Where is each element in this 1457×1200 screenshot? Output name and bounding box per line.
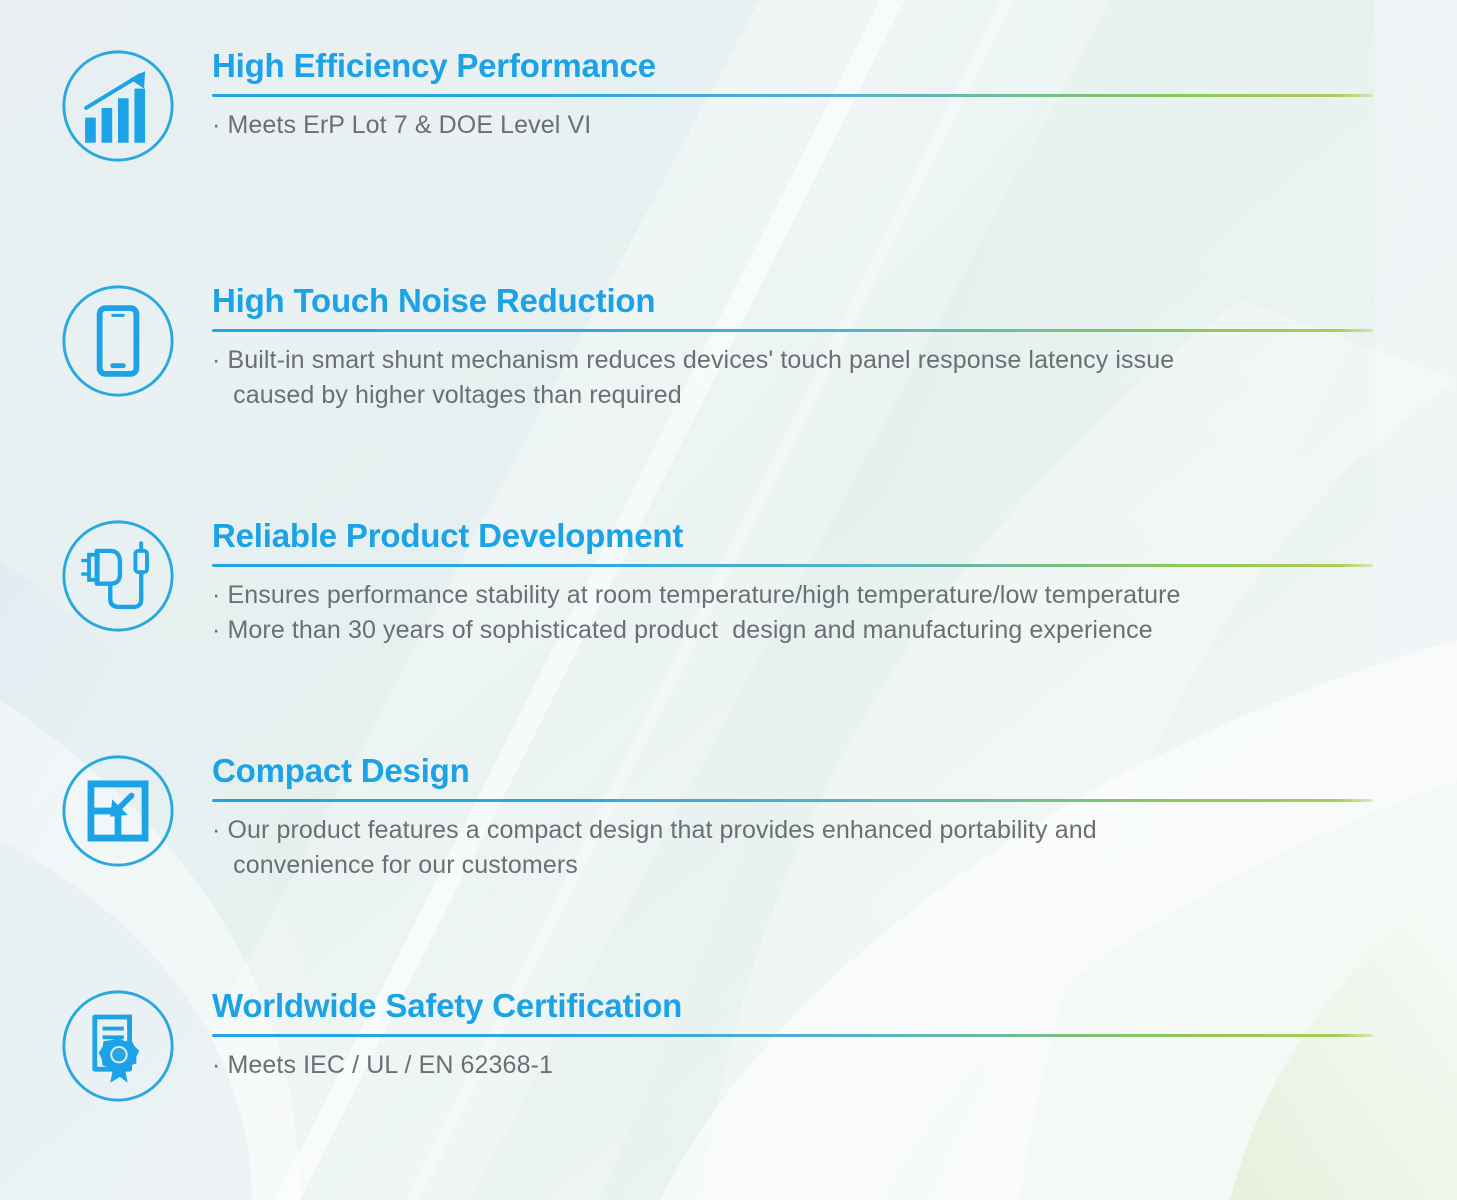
growth-bar-chart-icon (60, 48, 176, 164)
feature-divider (212, 329, 1373, 332)
power-adapter-icon (60, 518, 176, 634)
feature-bullet: · Meets ErP Lot 7 & DOE Level VI (212, 108, 1377, 144)
feature-item: Worldwide Safety Certification · Meets I… (0, 988, 1457, 1104)
certificate-award-icon (60, 988, 176, 1104)
feature-bullet: · Meets IEC / UL / EN 62368-1 (212, 1048, 1377, 1084)
smartphone-icon (60, 283, 176, 399)
feature-item: High Touch Noise Reduction · Built-in sm… (0, 283, 1457, 414)
feature-body: Worldwide Safety Certification · Meets I… (178, 988, 1457, 1083)
feature-item: High Efficiency Performance · Meets ErP … (0, 48, 1457, 164)
feature-list: High Efficiency Performance · Meets ErP … (0, 0, 1457, 1200)
feature-item: Compact Design · Our product features a … (0, 753, 1457, 884)
feature-divider (212, 94, 1373, 97)
feature-bullets: · Built-in smart shunt mechanism reduces… (212, 343, 1377, 414)
feature-divider (212, 564, 1373, 567)
feature-item: Reliable Product Development · Ensures p… (0, 518, 1457, 649)
feature-bullet: · Our product features a compact design … (212, 813, 1377, 884)
feature-bullet: · More than 30 years of sophisticated pr… (212, 613, 1377, 649)
feature-title: Reliable Product Development (212, 518, 1377, 555)
feature-icon-container (58, 518, 178, 634)
compact-resize-icon (60, 753, 176, 869)
feature-body: Compact Design · Our product features a … (178, 753, 1457, 884)
feature-bullets: · Meets IEC / UL / EN 62368-1 (212, 1048, 1377, 1084)
feature-icon-container (58, 753, 178, 869)
feature-body: High Efficiency Performance · Meets ErP … (178, 48, 1457, 143)
feature-divider (212, 799, 1373, 802)
feature-bullet: · Built-in smart shunt mechanism reduces… (212, 343, 1377, 414)
feature-title: Worldwide Safety Certification (212, 988, 1377, 1025)
feature-bullets: · Meets ErP Lot 7 & DOE Level VI (212, 108, 1377, 144)
feature-body: Reliable Product Development · Ensures p… (178, 518, 1457, 649)
feature-bullets: · Ensures performance stability at room … (212, 578, 1377, 649)
feature-title: High Touch Noise Reduction (212, 283, 1377, 320)
feature-title: High Efficiency Performance (212, 48, 1377, 85)
feature-icon-container (58, 988, 178, 1104)
feature-icon-container (58, 283, 178, 399)
feature-icon-container (58, 48, 178, 164)
feature-bullet: · Ensures performance stability at room … (212, 578, 1377, 614)
feature-divider (212, 1034, 1373, 1037)
feature-body: High Touch Noise Reduction · Built-in sm… (178, 283, 1457, 414)
feature-title: Compact Design (212, 753, 1377, 790)
feature-bullets: · Our product features a compact design … (212, 813, 1377, 884)
